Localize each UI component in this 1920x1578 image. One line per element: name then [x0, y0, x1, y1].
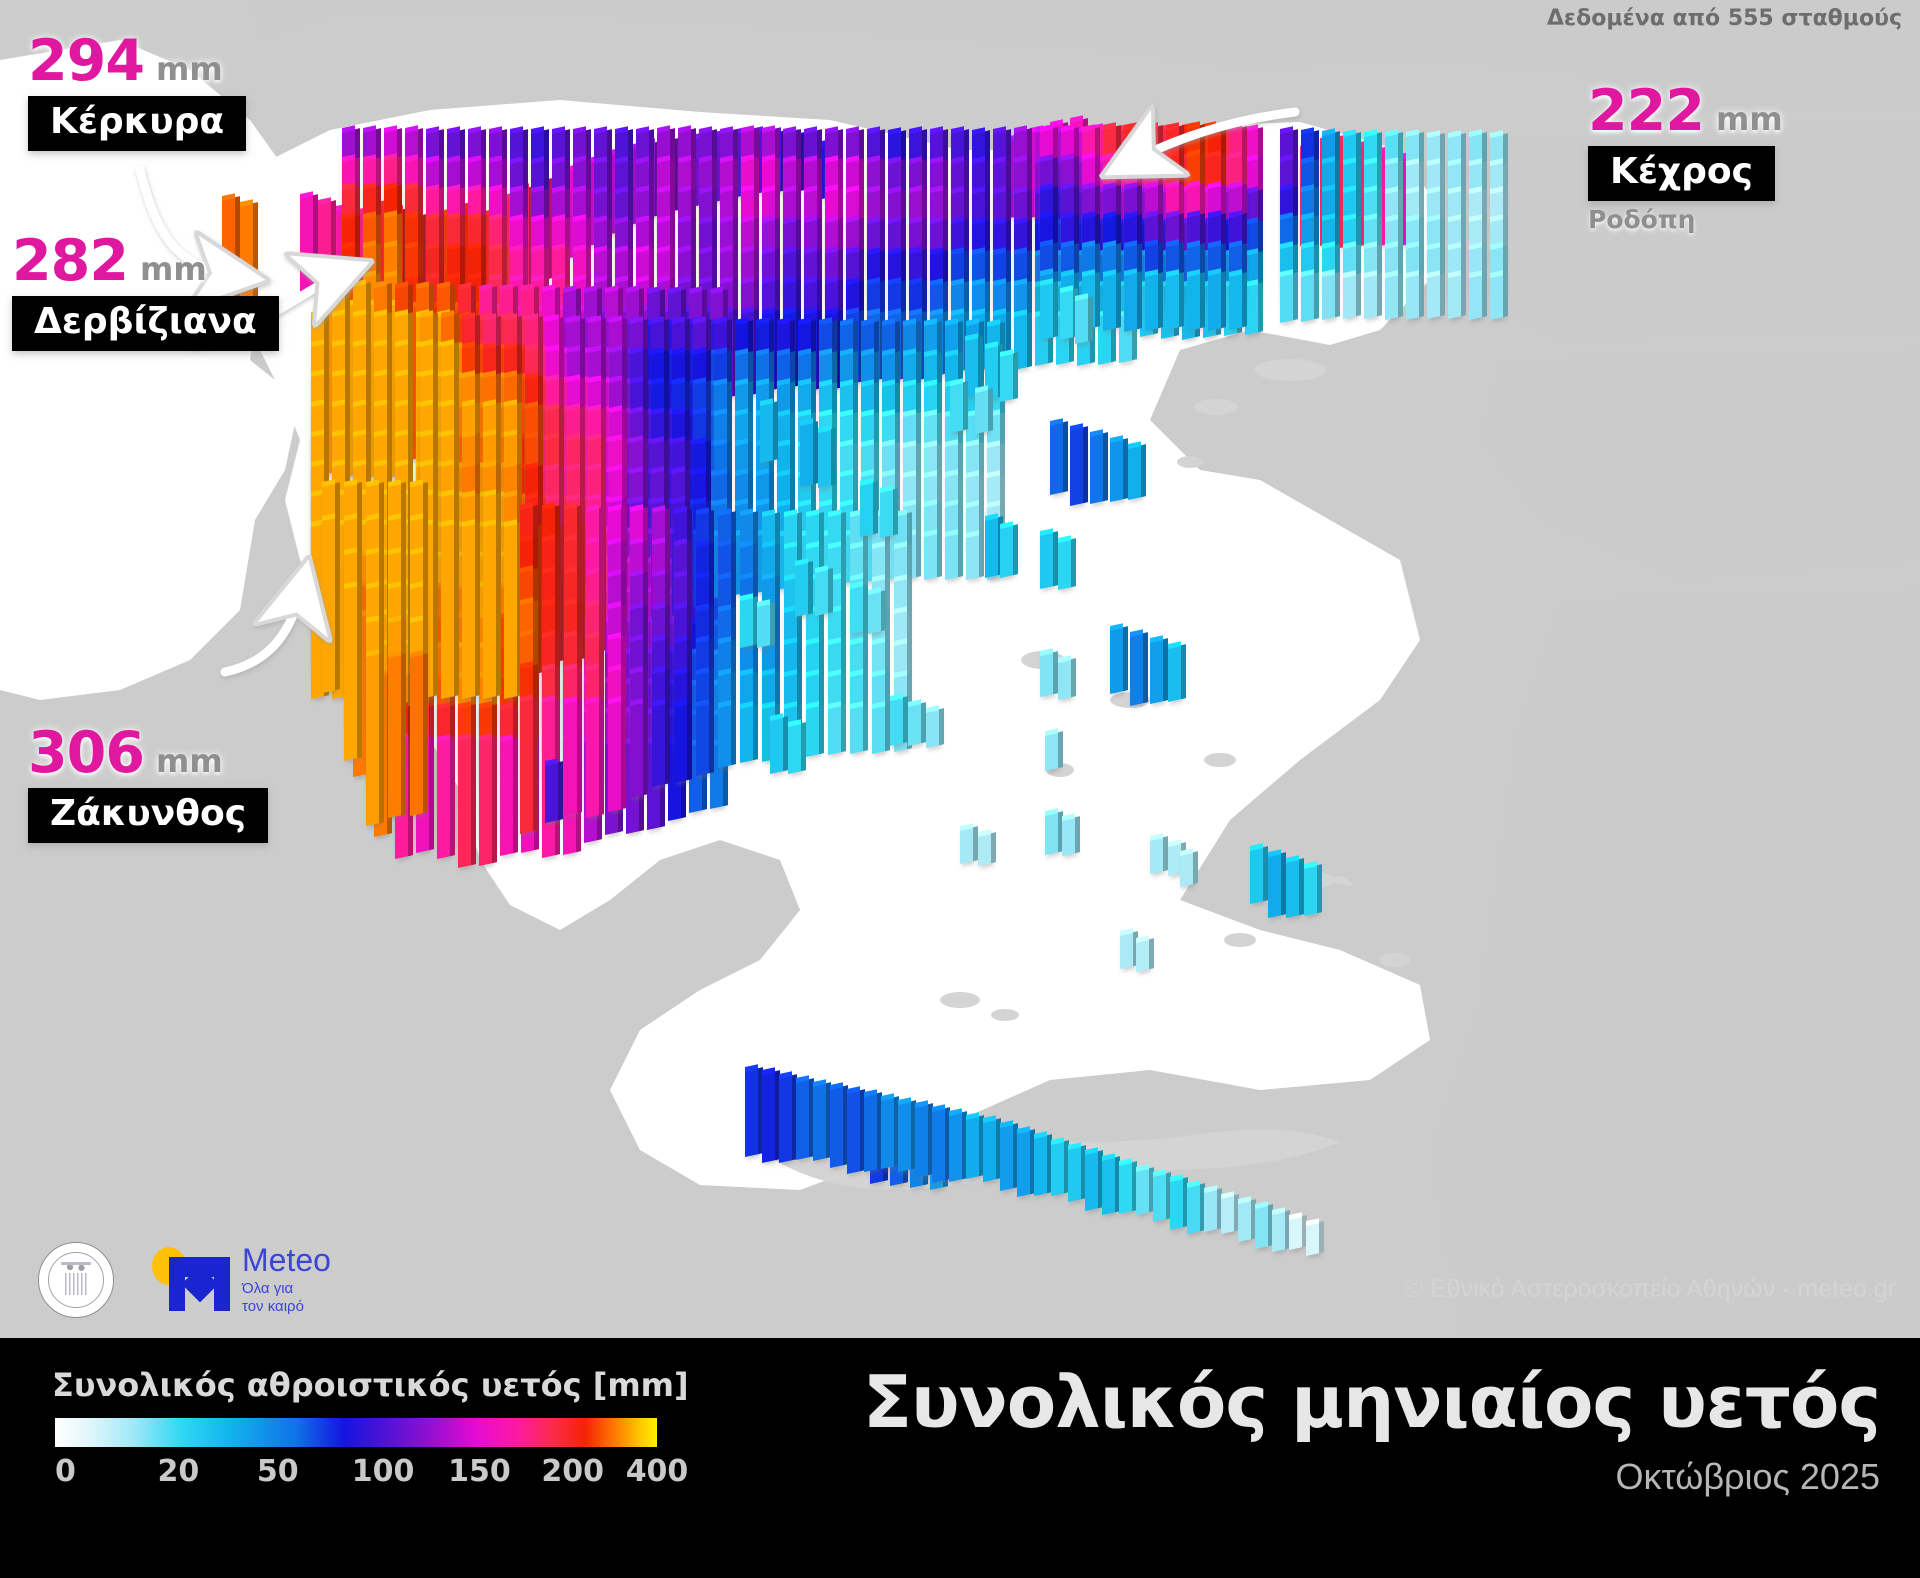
bar-cap [1128, 441, 1141, 449]
bar-side [433, 522, 438, 696]
precipitation-bar [1306, 1222, 1319, 1256]
bar-cap [972, 157, 985, 165]
bar-cap [1427, 130, 1440, 138]
bar-cap [483, 400, 496, 408]
bar-side [450, 737, 455, 856]
bar-cap [993, 126, 1006, 134]
bar-cap [311, 369, 324, 377]
precipitation-bar [322, 517, 335, 692]
bar-cap [384, 211, 397, 219]
bar-cap [1343, 129, 1356, 137]
bar-cap [978, 829, 991, 837]
bar-cap [564, 566, 577, 574]
bar-cap [405, 183, 418, 191]
bar-cap [951, 127, 964, 135]
bar-cap [1301, 127, 1314, 135]
precipitation-bar [978, 833, 991, 866]
bar-cap [783, 185, 796, 193]
precipitation-bar [1119, 1163, 1132, 1214]
bar-side [577, 699, 582, 813]
bar-cap [374, 459, 387, 467]
bar-cap [567, 404, 580, 412]
bar-side [429, 737, 434, 851]
bar-cap [608, 664, 621, 672]
bar-cap [563, 285, 576, 293]
bar-cap [806, 637, 819, 645]
bar-side [873, 481, 878, 534]
bar-cap [1221, 1191, 1234, 1199]
bar-cap [441, 369, 454, 377]
bar-side [1083, 426, 1088, 503]
precipitation-bar [915, 1105, 928, 1179]
precipitation-bar [1128, 445, 1141, 500]
precipitation-bar [458, 737, 471, 868]
bar-cap [1034, 1132, 1047, 1140]
bar-cap [932, 1104, 945, 1112]
callout-value-row: 306 mm [28, 720, 268, 786]
bar-cap [322, 479, 335, 487]
bar-cap [510, 126, 523, 134]
bar-cap [1229, 211, 1242, 219]
precipitation-bar [945, 534, 958, 581]
bar-cap [552, 274, 565, 282]
callout-dervizana: 282 mm Δερβίζιανα [12, 228, 279, 351]
bar-cap [1130, 629, 1143, 637]
precipitation-bar [1068, 1146, 1081, 1202]
bar-side [1137, 272, 1142, 330]
stations-note: Δεδομένα από 555 σταθμούς [1547, 6, 1902, 31]
bar-cap [1286, 855, 1299, 863]
precipitation-bar [779, 1075, 792, 1163]
bar-cap [872, 542, 885, 550]
bar-cap [756, 498, 769, 506]
bar-side [379, 653, 384, 824]
bar-cap [735, 498, 748, 506]
bar-cap [1168, 641, 1181, 649]
callout-value: 222 [1588, 78, 1704, 144]
bar-cap [441, 429, 454, 437]
bar-side [401, 653, 406, 815]
bar-cap [1061, 182, 1074, 190]
colorbar-tick-50: 50 [257, 1454, 299, 1489]
bar-cap [405, 241, 418, 249]
bar-side [1181, 644, 1186, 699]
bar-cap [1406, 130, 1419, 138]
bar-cap [573, 274, 586, 282]
bar-cap [447, 126, 460, 134]
bar-side [1356, 273, 1361, 316]
precipitation-bar [1062, 817, 1075, 856]
bar-cap [388, 616, 401, 624]
bar-cap [945, 470, 958, 478]
bar-cap [483, 489, 496, 497]
bar-cap [825, 185, 838, 193]
bar-side [819, 704, 824, 754]
callout-station-region: Ροδόπη [1588, 205, 1783, 234]
bar-cap [756, 317, 769, 325]
bar-cap [693, 378, 706, 386]
bar-cap [652, 505, 665, 513]
bar-side [979, 533, 984, 577]
bar-cap [783, 246, 796, 254]
bar-cap [1150, 833, 1163, 841]
bar-cap [796, 1075, 809, 1083]
bar-cap [410, 479, 423, 487]
bar-side [1013, 524, 1018, 575]
bar-cap [818, 425, 831, 433]
bar-cap [609, 315, 622, 323]
bar-cap [840, 409, 853, 417]
bar-cap [1040, 240, 1053, 248]
bar-side [1088, 296, 1093, 341]
precipitation-bar [985, 517, 998, 578]
bar-cap [850, 702, 863, 710]
bar-cap [1136, 1164, 1149, 1172]
bar-cap [966, 319, 979, 327]
bar-side [881, 590, 886, 631]
precipitation-bar [630, 702, 643, 798]
precipitation-bar [850, 706, 863, 755]
bar-cap [1187, 149, 1200, 157]
precipitation-bar [1280, 273, 1293, 322]
precipitation-bar [860, 482, 873, 537]
bar-cap [777, 378, 790, 386]
bar-side [937, 533, 942, 578]
bar-cap [311, 339, 324, 347]
bar-cap [881, 1094, 894, 1102]
bar-cap [846, 126, 859, 134]
precipitation-bar [1110, 627, 1123, 694]
bar-cap [384, 125, 397, 133]
bar-cap [1385, 242, 1398, 250]
precipitation-bar [975, 389, 988, 434]
bar-cap [1000, 349, 1013, 357]
bar-cap [489, 126, 502, 134]
colorbar-tick-200: 200 [541, 1454, 604, 1489]
bar-cap [567, 375, 580, 383]
bar-cap [573, 215, 586, 223]
bar-cap [674, 507, 687, 515]
bar-cap [804, 126, 817, 134]
bar-cap [588, 494, 601, 502]
meteo-tagline-line2: τον καιρό [242, 1298, 331, 1316]
precipitation-bar [847, 1090, 860, 1173]
bar-cap [1322, 270, 1335, 278]
bar-cap [903, 349, 916, 357]
precipitation-bar [1166, 273, 1179, 330]
bar-cap [915, 1101, 928, 1109]
bar-cap [1145, 210, 1158, 218]
precipitation-bar [1000, 1125, 1013, 1192]
precipitation-bar [344, 585, 357, 760]
bar-cap [813, 1079, 826, 1087]
precipitation-bar [1250, 847, 1263, 904]
bar-cap [825, 126, 838, 134]
callout-station-name: Κέρκυρα [28, 96, 246, 151]
bar-cap [1102, 1153, 1115, 1161]
bar-cap [1469, 130, 1482, 138]
bar-cap [1280, 154, 1293, 162]
precipitation-bar [795, 562, 808, 617]
bar-cap [374, 339, 387, 347]
precipitation-bar [932, 1108, 945, 1183]
precipitation-bar [1040, 282, 1053, 340]
bar-cap [882, 440, 895, 448]
bar-cap [1060, 285, 1073, 293]
bar-cap [300, 191, 313, 199]
bar-cap [1124, 122, 1137, 130]
bar-cap [374, 369, 387, 377]
bar-cap [332, 339, 345, 347]
bar-cap [1040, 648, 1053, 656]
bar-cap [1050, 418, 1063, 426]
precipitation-bar [908, 703, 921, 746]
bar-cap [872, 638, 885, 646]
bar-cap [353, 369, 366, 377]
bar-cap [374, 309, 387, 317]
precipitation-bar [1385, 274, 1398, 320]
bar-cap [735, 438, 748, 446]
bar-cap [762, 669, 775, 677]
bar-cap [795, 558, 808, 566]
bar-cap [1085, 1148, 1098, 1156]
bar-cap [332, 429, 345, 437]
precipitation-bar [818, 429, 831, 488]
bar-cap [1304, 861, 1317, 869]
bar-cap [1322, 185, 1335, 193]
bar-cap [951, 309, 964, 317]
bar-cap [609, 434, 622, 442]
precipitation-bar [366, 654, 379, 827]
page-title: Συνολικός μηνιαίος υετός [863, 1366, 1880, 1438]
bar-cap [740, 669, 753, 677]
bar-cap [447, 213, 460, 221]
bar-cap [615, 245, 628, 253]
bar-cap [1268, 849, 1281, 857]
bar-side [665, 702, 670, 784]
precipitation-bar [1120, 932, 1133, 969]
precipitation-bar [388, 654, 401, 818]
precipitation-bar [441, 523, 454, 698]
bar-cap [890, 693, 903, 701]
bar-cap [756, 468, 769, 476]
precipitation-bar [608, 700, 621, 812]
bar-cap [718, 668, 731, 676]
bar-cap [678, 185, 691, 193]
meteo-logo: Meteo Όλα για τον καιρό [152, 1244, 331, 1315]
bar-side [1482, 273, 1487, 317]
bar-cap [1364, 242, 1377, 250]
bar-cap [1187, 122, 1200, 130]
bar-cap [388, 479, 401, 487]
bar-cap [353, 399, 366, 407]
bar-side [1103, 432, 1108, 501]
bar-cap [420, 339, 433, 347]
bar-cap [1110, 623, 1123, 631]
bar-cap [828, 637, 841, 645]
precipitation-bar [1051, 1141, 1064, 1196]
bar-cap [462, 400, 475, 408]
bar-cap [1082, 153, 1095, 161]
bar-cap [615, 275, 628, 283]
bar-cap [363, 125, 376, 133]
bar-cap [972, 309, 985, 317]
bar-cap [405, 125, 418, 133]
precipitation-bar [788, 723, 801, 774]
bar-cap [531, 156, 544, 164]
bar-cap [510, 214, 523, 222]
bar-cap [1170, 1174, 1183, 1182]
bar-cap [762, 125, 775, 133]
callout-unit: mm [1716, 100, 1783, 138]
precipitation-bar [1187, 1184, 1200, 1233]
bar-cap [353, 429, 366, 437]
bar-cap [410, 651, 423, 659]
bar-cap [395, 459, 408, 467]
bar-cap [762, 155, 775, 163]
bar-cap [806, 509, 819, 517]
bar-cap [672, 437, 685, 445]
bar-cap [741, 185, 754, 193]
bar-cap [1120, 928, 1133, 936]
bar-cap [1385, 130, 1398, 138]
bar-side [753, 704, 758, 760]
precipitation-bar [760, 402, 773, 463]
bar-cap [872, 702, 885, 710]
bar-cap [783, 277, 796, 285]
precipitation-bar [410, 655, 423, 817]
bar-side [1419, 273, 1424, 317]
precipitation-bar [1075, 297, 1088, 344]
precipitation-bar [483, 523, 496, 698]
precipitation-bar [1187, 273, 1200, 331]
bar-cap [420, 399, 433, 407]
bar-side [496, 522, 501, 696]
precipitation-bar [1304, 865, 1317, 916]
precipitation-bar [1238, 1200, 1251, 1241]
bar-cap [678, 126, 691, 134]
bar-cap [1070, 115, 1083, 123]
bar-cap [410, 615, 423, 623]
callout-unit: mm [156, 50, 223, 88]
bar-cap [740, 508, 753, 516]
bar-cap [520, 695, 533, 703]
bar-cap [1119, 1159, 1132, 1167]
bar-cap [1364, 214, 1377, 222]
bar-cap [847, 1086, 860, 1094]
bar-side [1242, 272, 1247, 327]
precipitation-bar [983, 1120, 996, 1183]
bar-cap [972, 187, 985, 195]
precipitation-bar [696, 704, 709, 777]
bar-side [1193, 851, 1198, 884]
bar-cap [1343, 242, 1356, 250]
bar-cap [840, 439, 853, 447]
bar-cap [546, 433, 559, 441]
bar-cap [311, 309, 324, 317]
bar-cap [1145, 123, 1158, 131]
bar-cap [696, 539, 709, 547]
bar-cap [479, 284, 492, 292]
bar-cap [567, 345, 580, 353]
bar-side [841, 704, 846, 752]
bar-cap [504, 400, 517, 408]
precipitation-bar [1153, 1173, 1166, 1222]
bar-cap [909, 247, 922, 255]
bar-cap [395, 339, 408, 347]
bar-cap [483, 371, 496, 379]
precipitation-bar [966, 534, 979, 580]
precipitation-bar [926, 709, 939, 748]
precipitation-bar [1272, 1211, 1285, 1252]
bar-cap [652, 667, 665, 675]
bar-cap [410, 547, 423, 555]
callout-station-name: Δερβίζιανα [12, 296, 279, 351]
bar-cap [867, 185, 880, 193]
bar-cap [332, 399, 345, 407]
bar-cap [966, 440, 979, 448]
bar-cap [1168, 839, 1181, 847]
bar-cap [651, 436, 664, 444]
bar-cap [1187, 210, 1200, 218]
bar-cap [985, 513, 998, 521]
bar-cap [1061, 125, 1074, 133]
bar-cap [861, 469, 874, 477]
bar-cap [652, 537, 665, 545]
bar-side [1071, 658, 1076, 697]
bar-cap [525, 313, 538, 321]
bar-cap [828, 669, 841, 677]
bar-cap [1017, 1126, 1030, 1134]
bar-cap [828, 541, 841, 549]
precipitation-bar [674, 703, 687, 782]
bar-cap [735, 378, 748, 386]
bar-cap [584, 285, 597, 293]
bar-cap [1145, 240, 1158, 248]
precipitation-bar [479, 737, 492, 865]
bar-cap [1014, 248, 1027, 256]
bar-cap [1166, 122, 1179, 130]
bar-cap [846, 246, 859, 254]
bar-cap [678, 246, 691, 254]
bar-cap [762, 541, 775, 549]
bar-cap [720, 246, 733, 254]
bar-cap [693, 407, 706, 415]
bar-cap [441, 339, 454, 347]
precipitation-bar [740, 597, 753, 648]
bar-cap [609, 465, 622, 473]
bar-cap [594, 216, 607, 224]
bar-cap [861, 348, 874, 356]
bar-cap [1051, 1137, 1064, 1145]
bar-cap [804, 216, 817, 224]
bar-cap [930, 186, 943, 194]
bar-cap [846, 215, 859, 223]
bar-cap [546, 315, 559, 323]
precipitation-bar [1136, 1168, 1149, 1215]
bar-side [958, 533, 963, 579]
precipitation-bar [1050, 422, 1063, 495]
bar-cap [740, 593, 753, 601]
bar-cap [332, 459, 345, 467]
bar-cap [945, 530, 958, 538]
bar-cap [924, 379, 937, 387]
bar-cap [741, 125, 754, 133]
precipitation-bar [1090, 433, 1103, 504]
precipitation-bar [770, 717, 783, 774]
bar-cap [779, 1071, 792, 1079]
bar-cap [441, 489, 454, 497]
